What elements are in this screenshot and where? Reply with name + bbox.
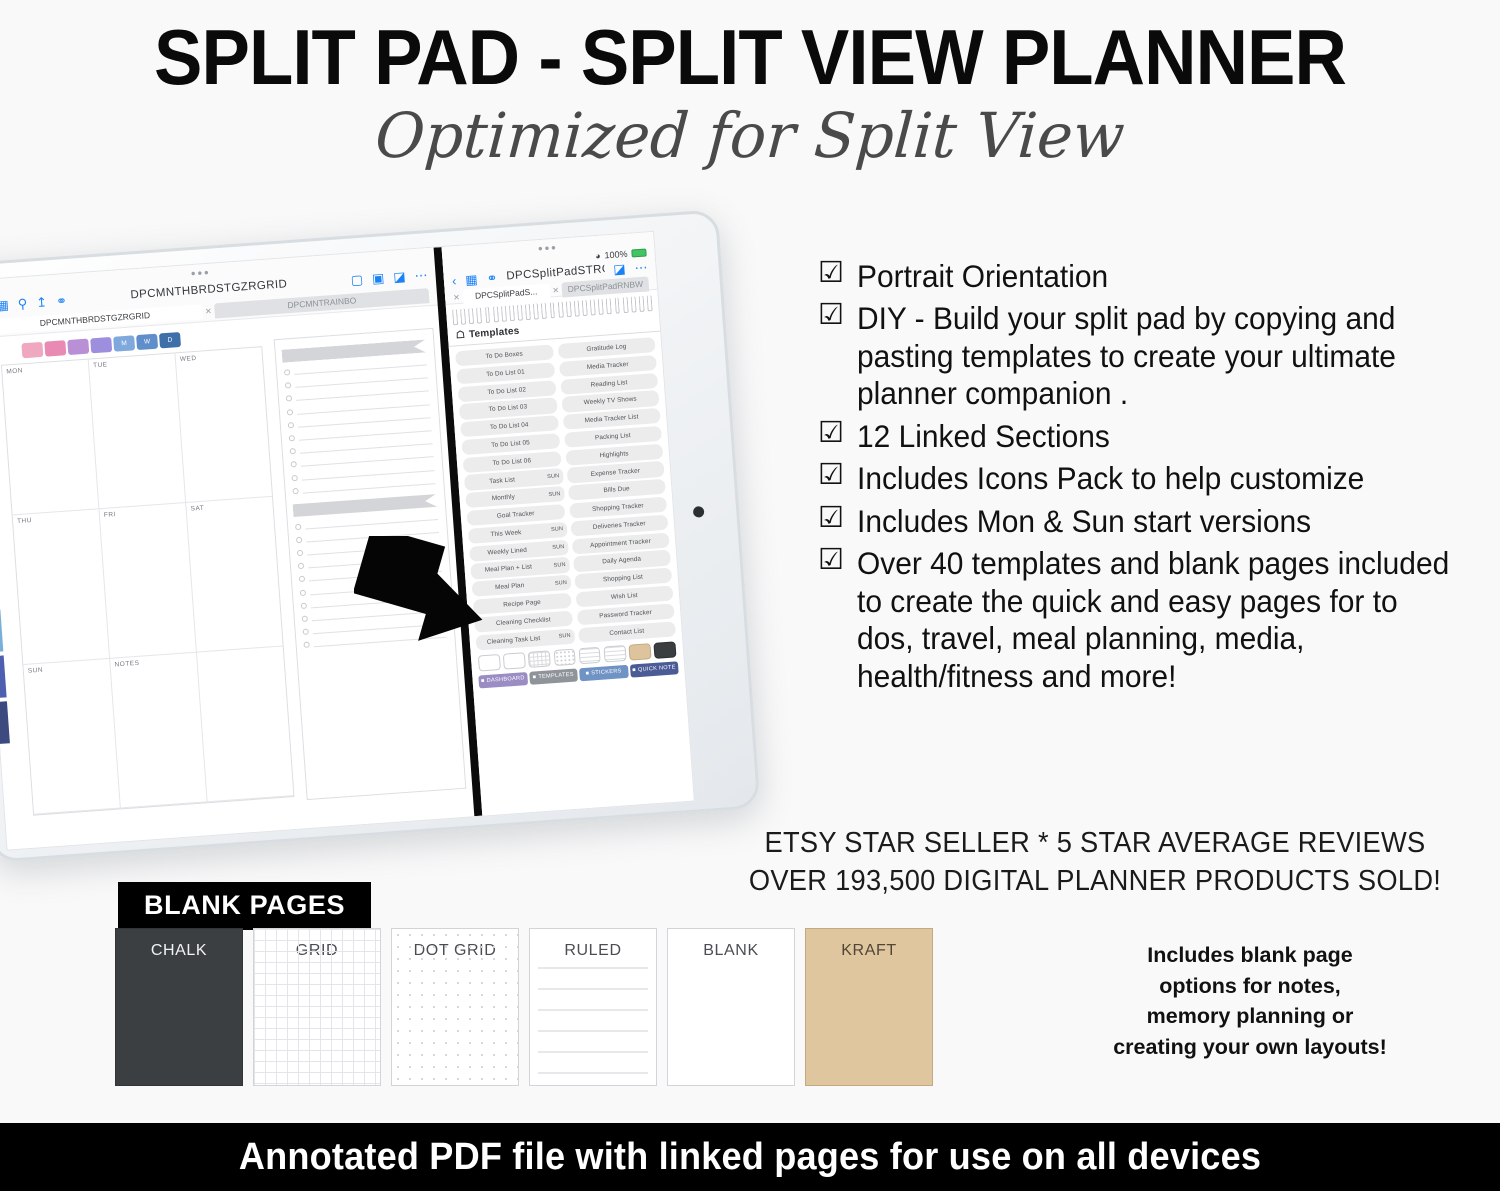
- write-line: [299, 425, 432, 440]
- write-line: [301, 465, 434, 480]
- template-button-label: Password Tracker: [599, 609, 652, 620]
- feature-item: ☑Includes Mon & Sun start versions: [818, 503, 1490, 540]
- day-cell[interactable]: TUE: [89, 353, 187, 509]
- add-page-icon[interactable]: ▣: [372, 271, 385, 285]
- day-cell[interactable]: [197, 646, 294, 802]
- annotate-icon[interactable]: ◪: [393, 269, 406, 283]
- section-banner: [293, 494, 438, 517]
- spiral-coil: [501, 306, 507, 322]
- bottom-nav-stickers[interactable]: ■STICKERS: [579, 665, 628, 681]
- feature-item-label: Includes Mon & Sun start versions: [857, 503, 1311, 540]
- tablet-mockup: ••• ✕ ▦ ⚲ ↥ ⚭ DPCMNTHBRDSTGZRGRID ▢ ▣ ◪ …: [0, 236, 760, 876]
- tab-close-icon[interactable]: ✕: [453, 292, 460, 301]
- checkbox-circle-icon[interactable]: [297, 550, 303, 556]
- footer-text: Annotated PDF file with linked pages for…: [239, 1136, 1261, 1179]
- battery-percent: 100%: [604, 249, 628, 261]
- bottom-nav-label: QUICK NOTE: [638, 665, 676, 674]
- sun-variant-chip[interactable]: SUN: [551, 575, 571, 592]
- paper-style-button[interactable]: [578, 646, 601, 664]
- search-icon[interactable]: ⚲: [17, 296, 27, 310]
- section-banner: [281, 339, 426, 362]
- checkbox-circle-icon[interactable]: [298, 563, 304, 569]
- spiral-coil: [598, 299, 604, 315]
- checkbox-circle-icon[interactable]: [291, 474, 297, 480]
- day-label: MON: [6, 363, 88, 376]
- grid-view-icon[interactable]: ▦: [465, 272, 478, 286]
- weekly-spread-page: MON TUE WED THU FRI SAT SUN NOTES: [1, 346, 295, 816]
- template-button-label: Media Tracker List: [584, 414, 638, 425]
- template-button-label: Bills Due: [603, 486, 630, 495]
- checkbox-circle-icon[interactable]: [284, 369, 290, 375]
- day-label: FRI: [104, 506, 186, 519]
- blank-pages-badge: BLANK PAGES: [118, 882, 371, 930]
- checklist-row[interactable]: [292, 478, 435, 494]
- write-line: [297, 399, 430, 414]
- pointer-arrow-icon: [354, 536, 490, 656]
- template-button-label: To Do List 06: [492, 457, 531, 467]
- annotate-icon[interactable]: ◪: [613, 261, 626, 275]
- blank-page-swatch-label: KRAFT: [806, 942, 932, 960]
- tab-close-icon[interactable]: ✕: [205, 306, 212, 315]
- template-button-label: To Do List 01: [486, 368, 525, 378]
- day-cell[interactable]: MON: [2, 360, 100, 516]
- bottom-nav-label: STICKERS: [591, 668, 622, 676]
- notes-label: NOTES: [114, 656, 196, 669]
- template-button-label: To Do List 05: [491, 439, 530, 449]
- feature-item: ☑Over 40 templates and blank pages inclu…: [818, 545, 1490, 695]
- spiral-coil: [533, 303, 539, 319]
- spiral-coil: [484, 307, 490, 323]
- bottom-nav-dashboard[interactable]: ■DASHBOARD: [478, 672, 527, 688]
- template-button-label: Monthly: [492, 494, 516, 503]
- blank-page-swatch-label: RULED: [530, 942, 656, 960]
- spiral-coil: [647, 295, 653, 311]
- battery-icon: [631, 248, 647, 257]
- feature-item: ☑12 Linked Sections: [818, 418, 1490, 455]
- spiral-coil: [476, 307, 482, 323]
- templates-header-label: Templates: [469, 326, 520, 341]
- feature-item-label: DIY - Build your split pad by copying an…: [857, 300, 1458, 412]
- sun-variant-chip[interactable]: SUN: [545, 486, 565, 503]
- spiral-coil: [557, 302, 563, 318]
- share-icon[interactable]: ↥: [36, 295, 48, 309]
- more-icon[interactable]: ⋯: [414, 268, 428, 282]
- template-button-label: Cleaning Checklist: [496, 616, 551, 627]
- tablet-screen: ••• ✕ ▦ ⚲ ↥ ⚭ DPCMNTHBRDSTGZRGRID ▢ ▣ ◪ …: [0, 231, 695, 851]
- day-cell[interactable]: THU: [13, 509, 111, 665]
- paper-style-button[interactable]: [478, 654, 501, 672]
- bookmark-icon[interactable]: ▢: [350, 272, 363, 286]
- template-button-label: Highlights: [599, 450, 628, 459]
- template-button-label: Weekly Lined: [487, 546, 527, 556]
- write-line: [295, 373, 428, 388]
- sun-variant-chip[interactable]: SUN: [543, 468, 563, 485]
- feature-item-label: Includes Icons Pack to help customize: [857, 460, 1364, 497]
- color-tab[interactable]: [21, 342, 43, 358]
- template-button-label: Expense Tracker: [590, 467, 640, 478]
- template-button-label: To Do List 03: [489, 404, 528, 414]
- checkbox-checked-icon: ☑: [818, 258, 844, 295]
- spiral-coil: [468, 308, 474, 324]
- blank-pages-swatches: CHALKGRIDDOT GRIDRULEDBLANKKRAFT: [115, 928, 933, 1086]
- spiral-coil: [638, 296, 644, 312]
- checkbox-circle-icon[interactable]: [290, 448, 296, 454]
- checkbox-circle-icon[interactable]: [295, 524, 301, 530]
- checkbox-circle-icon[interactable]: [286, 396, 292, 402]
- template-button-label: Daily Agenda: [602, 556, 641, 566]
- checkbox-circle-icon[interactable]: [296, 537, 302, 543]
- bottom-nav-quick-note[interactable]: ■QUICK NOTE: [629, 661, 678, 677]
- footer-bar: Annotated PDF file with linked pages for…: [0, 1123, 1500, 1191]
- paper-style-button[interactable]: [503, 652, 526, 670]
- checkbox-checked-icon: ☑: [818, 418, 844, 455]
- spiral-coil: [493, 306, 499, 322]
- bottom-nav-templates[interactable]: ■TEMPLATES: [529, 668, 578, 684]
- spiral-coil: [460, 309, 466, 325]
- template-button-label: Task List: [489, 476, 515, 485]
- template-button-label: Meal Plan + List: [485, 564, 533, 574]
- templates-column-right: Gratitude LogMedia TrackerReading ListWe…: [557, 337, 676, 643]
- template-button-label: Goal Tracker: [497, 510, 535, 520]
- checkbox-circle-icon[interactable]: [303, 642, 309, 648]
- paper-style-button[interactable]: [553, 648, 576, 666]
- paper-style-button[interactable]: [629, 643, 652, 661]
- color-tab[interactable]: [90, 337, 112, 353]
- home-icon: ☖: [456, 330, 466, 342]
- template-button-label: Wish List: [611, 592, 638, 601]
- blank-pages-caption-line: creating your own layouts!: [1010, 1032, 1490, 1063]
- blank-pages-caption-line: Includes blank page: [1010, 940, 1490, 971]
- template-button-label: Deliveries Tracker: [593, 520, 646, 531]
- day-label: THU: [17, 512, 99, 525]
- blank-pages-caption-line: memory planning or: [1010, 1001, 1490, 1032]
- paper-style-button[interactable]: [603, 645, 626, 663]
- etsy-line-2: OVER 193,500 DIGITAL PLANNER PRODUCTS SO…: [724, 862, 1467, 900]
- day-cell[interactable]: FRI: [99, 503, 197, 659]
- feature-item: ☑DIY - Build your split pad by copying a…: [818, 300, 1490, 412]
- sun-variant-chip[interactable]: SUN: [550, 557, 570, 574]
- checkbox-circle-icon[interactable]: [287, 409, 293, 415]
- stickers-icon: ■: [585, 671, 589, 677]
- feature-item-label: 12 Linked Sections: [857, 418, 1110, 455]
- write-line: [294, 359, 427, 374]
- template-button-label: Recipe Page: [503, 599, 541, 609]
- checkbox-circle-icon[interactable]: [285, 382, 291, 388]
- template-button-label: Shopping List: [603, 574, 643, 584]
- spiral-coil: [525, 304, 531, 320]
- template-button-label: Packing List: [595, 432, 631, 442]
- day-label: TUE: [93, 356, 175, 369]
- checkbox-circle-icon[interactable]: [288, 422, 294, 428]
- home-icon: ■: [481, 678, 485, 684]
- template-button-label: To Do List 04: [490, 422, 529, 432]
- spiral-coil: [614, 298, 620, 314]
- spiral-coil: [574, 300, 580, 316]
- template-button-label: Cleaning Task List: [487, 635, 541, 646]
- template-button-label: Weekly TV Shows: [584, 396, 637, 407]
- page-title: SPLIT PAD - SPLIT VIEW PLANNER: [53, 18, 1448, 98]
- more-icon[interactable]: ⋯: [634, 260, 648, 274]
- header: SPLIT PAD - SPLIT VIEW PLANNER Optimized…: [0, 0, 1500, 171]
- checkbox-checked-icon: ☑: [818, 545, 844, 695]
- blank-pages-caption-line: options for notes,: [1010, 971, 1490, 1002]
- checkbox-circle-icon[interactable]: [291, 461, 297, 467]
- blank-page-swatch[interactable]: BLANK: [667, 928, 795, 1086]
- right-pane-toolbar: ••• ◕ 100% ‹ ▦ ⚭ DPCSplitPadSTRGZR ◪: [442, 232, 658, 305]
- write-line: [298, 412, 431, 427]
- template-button-label: Appointment Tracker: [590, 538, 651, 549]
- template-button-label: To Do List 02: [487, 386, 526, 396]
- spiral-coil: [582, 300, 588, 316]
- blank-page-swatch[interactable]: RULED: [529, 928, 657, 1086]
- write-line: [300, 438, 433, 453]
- checkbox-checked-icon: ☑: [818, 300, 844, 412]
- spiral-coil: [549, 302, 555, 318]
- template-button-label: Reading List: [590, 379, 627, 389]
- side-tab[interactable]: [0, 610, 3, 653]
- sun-variant-chip[interactable]: SUN: [555, 628, 575, 645]
- template-button-label: To Do Boxes: [485, 351, 523, 361]
- blank-page-swatch-label: GRID: [254, 942, 380, 960]
- color-tab-m[interactable]: M: [113, 335, 135, 351]
- day-label: WED: [180, 350, 262, 363]
- blank-pages-caption: Includes blank pageoptions for notes,mem…: [1010, 940, 1490, 1062]
- etsy-line-1: ETSY STAR SELLER * 5 STAR AVERAGE REVIEW…: [724, 824, 1467, 862]
- template-button-label: This Week: [490, 529, 521, 538]
- color-tab[interactable]: [67, 339, 89, 355]
- write-line: [300, 452, 433, 467]
- note-icon: ■: [632, 667, 636, 673]
- day-label: SUN: [28, 662, 110, 675]
- bottom-nav-label: TEMPLATES: [538, 672, 574, 681]
- spiral-coil: [509, 305, 515, 321]
- blank-page-swatch-label: BLANK: [668, 942, 794, 960]
- blank-page-swatch[interactable]: CHALK: [115, 928, 243, 1086]
- page-subtitle: Optimized for Split View: [20, 100, 1480, 171]
- checkbox-circle-icon[interactable]: [302, 616, 308, 622]
- tab-close-icon[interactable]: ✕: [552, 285, 559, 294]
- spiral-coil: [517, 304, 523, 320]
- color-tab-w[interactable]: W: [136, 334, 158, 350]
- paper-style-button[interactable]: [654, 641, 677, 659]
- template-button-label: Gratitude Log: [586, 343, 626, 353]
- side-tab[interactable]: [0, 655, 7, 698]
- checkbox-circle-icon[interactable]: [300, 589, 306, 595]
- template-button-label: Shopping Tracker: [592, 502, 644, 513]
- feature-item-label: Over 40 templates and blank pages includ…: [857, 545, 1458, 695]
- checkbox-circle-icon[interactable]: [289, 435, 295, 441]
- feature-item: ☑Portrait Orientation: [818, 258, 1490, 295]
- spiral-coil: [590, 299, 596, 315]
- mic-icon[interactable]: ⚭: [56, 294, 68, 308]
- spiral-coil: [566, 301, 572, 317]
- spiral-coil: [630, 296, 636, 312]
- day-cell[interactable]: WED: [175, 347, 272, 503]
- spiral-coil: [606, 298, 612, 314]
- write-line: [296, 386, 429, 401]
- write-line: [302, 478, 435, 493]
- wifi-icon: ◕: [595, 251, 601, 261]
- color-tab-d[interactable]: D: [159, 332, 181, 348]
- checkbox-checked-icon: ☑: [818, 503, 844, 540]
- blank-page-swatch[interactable]: GRID: [253, 928, 381, 1086]
- template-button-label: Media Tracker: [587, 361, 629, 371]
- checkbox-checked-icon: ☑: [818, 460, 844, 497]
- back-icon[interactable]: ‹: [452, 274, 457, 287]
- notes-cell[interactable]: NOTES: [110, 653, 208, 809]
- sun-variant-chip[interactable]: SUN: [547, 522, 567, 539]
- checkbox-circle-icon[interactable]: [292, 488, 298, 494]
- blank-page-swatch[interactable]: KRAFT: [805, 928, 933, 1086]
- day-cell[interactable]: SAT: [186, 497, 283, 653]
- template-button-label: Contact List: [609, 627, 644, 636]
- camera-icon: [693, 506, 705, 518]
- checkbox-circle-icon[interactable]: [299, 576, 305, 582]
- spiral-coil: [541, 303, 547, 319]
- feature-item: ☑Includes Icons Pack to help customize: [818, 460, 1490, 497]
- blank-page-swatch[interactable]: DOT GRID: [391, 928, 519, 1086]
- blank-page-swatch-label: CHALK: [116, 942, 242, 960]
- day-label: SAT: [190, 500, 272, 513]
- paper-style-button[interactable]: [528, 650, 551, 668]
- seller-credentials: ETSY STAR SELLER * 5 STAR AVERAGE REVIEW…: [700, 824, 1490, 901]
- spiral-coil: [452, 309, 458, 325]
- blank-page-swatch-label: DOT GRID: [392, 942, 518, 960]
- checkbox-circle-icon[interactable]: [301, 602, 307, 608]
- write-line: [305, 514, 438, 529]
- sun-variant-chip[interactable]: SUN: [548, 539, 568, 556]
- spiral-coil: [622, 297, 628, 313]
- checklist-section: [277, 359, 444, 495]
- color-tab[interactable]: [44, 340, 66, 356]
- split-pane-right: ••• ◕ 100% ‹ ▦ ⚭ DPCSplitPadSTRGZR ◪: [442, 232, 694, 816]
- templates-icon: ■: [533, 675, 537, 681]
- bottom-nav-label: DASHBOARD: [487, 675, 525, 684]
- day-cell[interactable]: SUN: [23, 659, 121, 815]
- grid-view-icon[interactable]: ▦: [0, 298, 9, 312]
- checkbox-circle-icon[interactable]: [303, 629, 309, 635]
- mic-icon[interactable]: ⚭: [486, 271, 498, 285]
- template-button-label: Meal Plan: [495, 582, 525, 591]
- feature-list: ☑Portrait Orientation☑DIY - Build your s…: [818, 258, 1490, 700]
- side-tab[interactable]: [0, 701, 10, 744]
- feature-item-label: Portrait Orientation: [857, 258, 1108, 295]
